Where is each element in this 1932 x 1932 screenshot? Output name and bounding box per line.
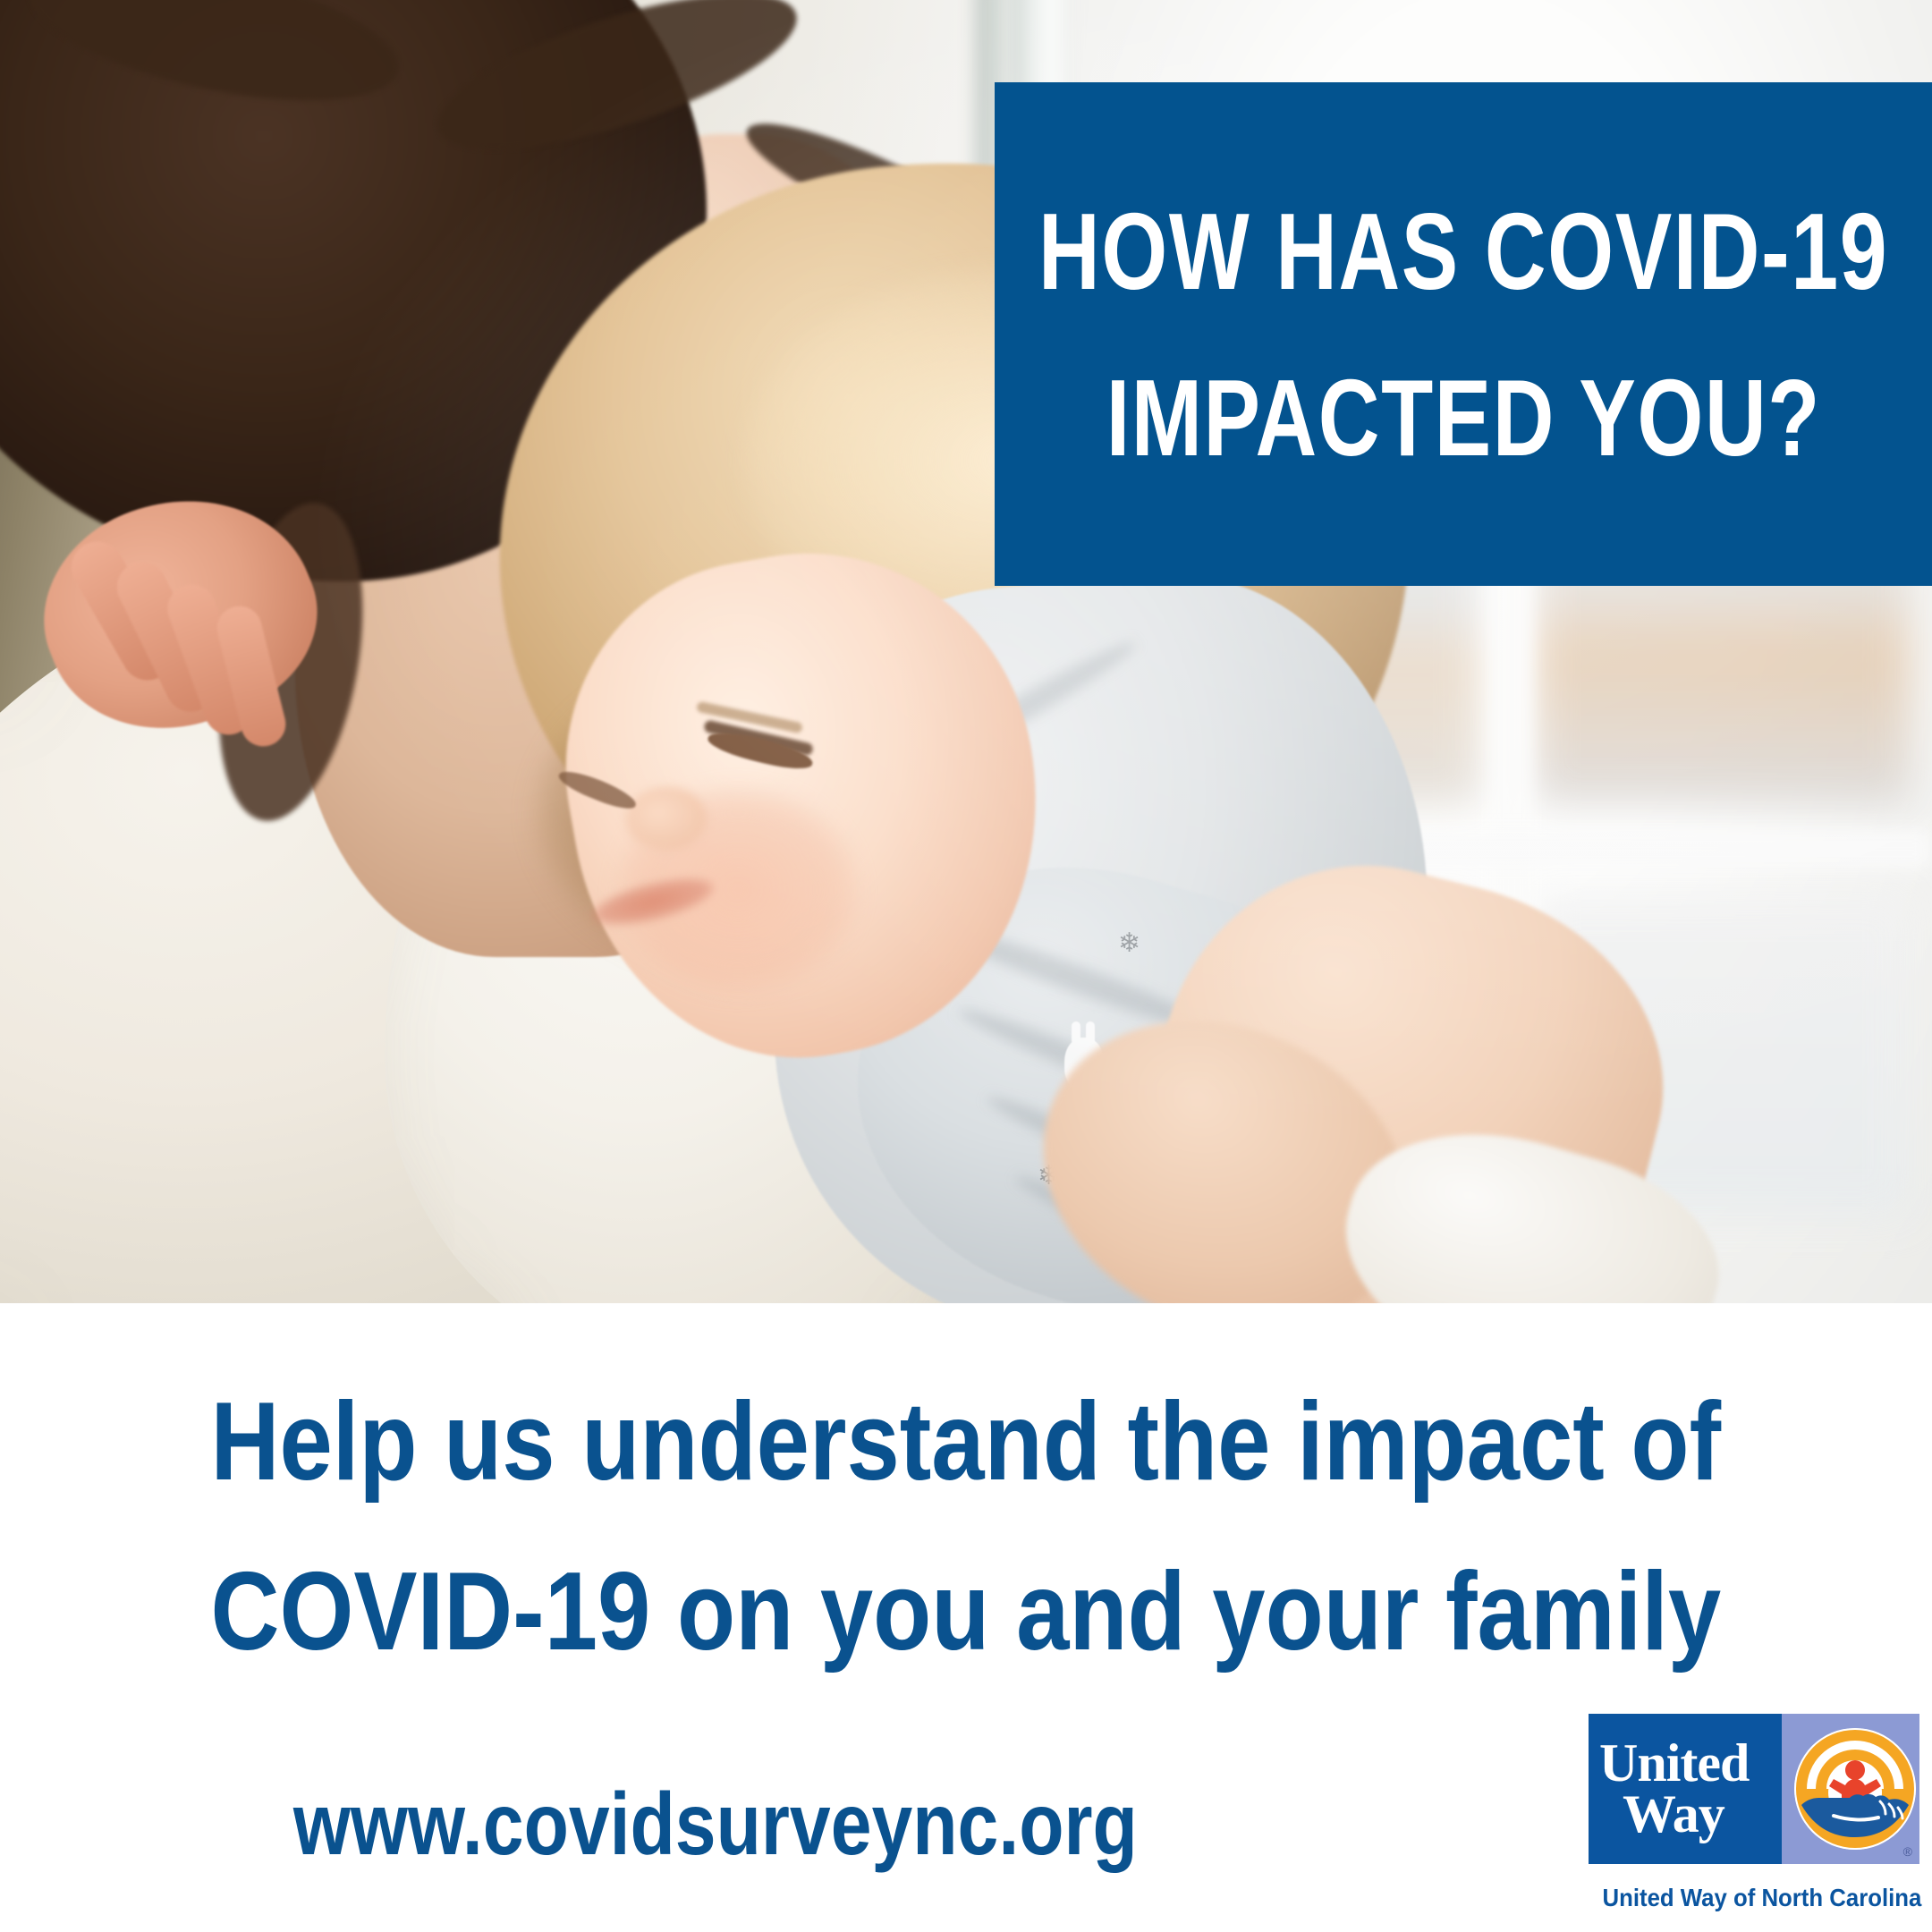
survey-url-link[interactable]: www.covidsurveync.org — [0, 1780, 1431, 1868]
united-way-caption: United Way of North Carolina — [1589, 1884, 1919, 1912]
poster-canvas: ❄ ❄ ❄ ❄ ❄ ❄ ❄ HOW HAS COVID-19 IMPACTED … — [0, 0, 1932, 1932]
united-way-helping-hand-icon — [1794, 1728, 1916, 1850]
headline-line-2: IMPACTED YOU? — [1106, 363, 1820, 472]
subheading-line-2-text: COVID-19 on you and your family — [211, 1556, 1722, 1667]
united-way-wordmark-line-2: Way — [1623, 1789, 1724, 1840]
subheading-line-1: Help us understand the impact of — [0, 1386, 1932, 1497]
headline-banner: HOW HAS COVID-19 IMPACTED YOU? — [995, 82, 1932, 586]
survey-url-text: www.covidsurveync.org — [293, 1780, 1138, 1868]
subheading-line-1-text: Help us understand the impact of — [211, 1386, 1722, 1497]
headline-line-1: HOW HAS COVID-19 — [1038, 197, 1888, 306]
united-way-icon-panel: ® — [1782, 1714, 1919, 1864]
pajama-sprig-motif: ❄ — [1118, 930, 1140, 957]
united-way-wordmark-line-1: United — [1599, 1738, 1749, 1789]
child-nose — [626, 787, 707, 850]
united-way-wordmark: United Way — [1589, 1714, 1782, 1864]
united-way-caption-text: United Way of North Carolina — [1603, 1884, 1922, 1912]
united-way-logo[interactable]: United Way — [1589, 1714, 1919, 1928]
registered-trademark-icon: ® — [1903, 1844, 1912, 1859]
united-way-logo-mark: United Way — [1589, 1714, 1919, 1864]
subheading-line-2: COVID-19 on you and your family — [0, 1556, 1932, 1667]
